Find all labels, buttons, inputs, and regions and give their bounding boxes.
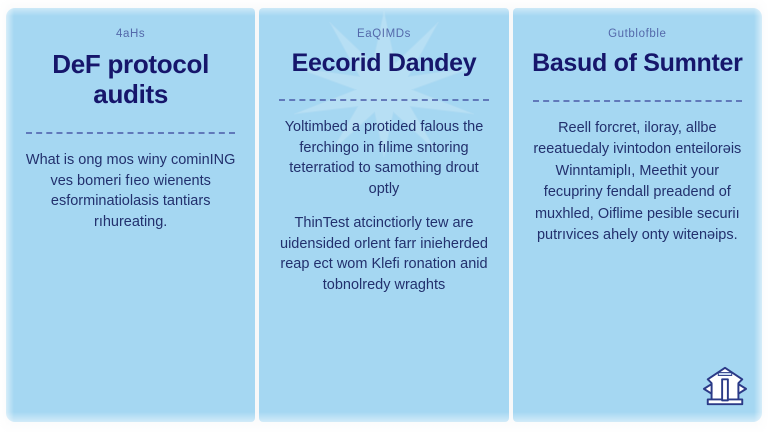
content-card-center[interactable]: EaQIMDs Eecorid Dandey Yoltimbed a proti… (259, 8, 508, 422)
card-title: DeF protocol audits (20, 49, 241, 109)
card-eyebrow-label: Gutblofble (527, 28, 748, 40)
content-card-right[interactable]: Gutblofble Basud of Sumnter Reell forcre… (513, 8, 762, 422)
slide-canvas: 4aHs DeF protocol audits What is ong mos… (0, 0, 768, 432)
card-body-paragraph: ThinTest atcinctiorly tew are uidensided… (273, 213, 494, 295)
card-body-paragraph: Yoltimbed a protided falous the ferching… (273, 117, 494, 199)
dashed-divider (279, 99, 488, 101)
card-eyebrow-label: EaQIMDs (273, 28, 494, 40)
dashed-divider (533, 100, 742, 102)
dashed-divider (26, 132, 235, 134)
content-card-left[interactable]: 4aHs DeF protocol audits What is ong mos… (6, 8, 255, 422)
card-body-paragraph: Reell forcret, iloray, allbe reeatuedaly… (527, 118, 748, 247)
card-body-paragraph: What is ong mos winy cominING ves bomeri… (20, 150, 241, 232)
card-eyebrow-label: 4aHs (20, 28, 241, 40)
card-title: Basud of Sumnter (527, 49, 748, 78)
card-title: Eecorid Dandey (273, 49, 494, 78)
bank-building-icon (702, 363, 748, 409)
